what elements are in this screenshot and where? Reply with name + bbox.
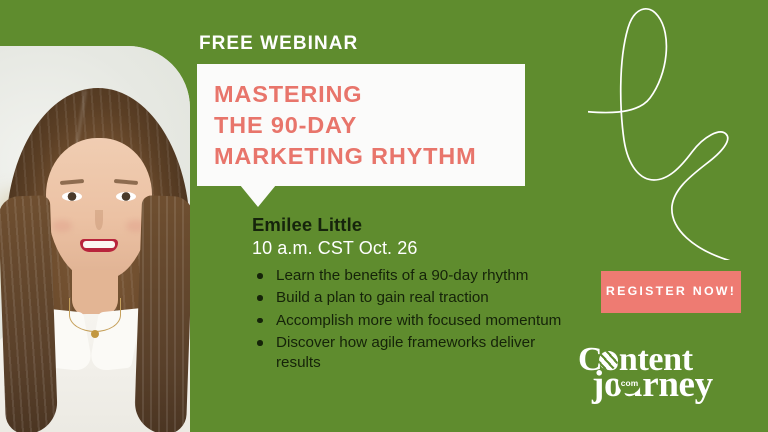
headline-line-3: MARKETING RHYTHM xyxy=(214,141,519,172)
cheek-left xyxy=(52,220,72,232)
eyebrow-left xyxy=(60,179,84,185)
headline-line-2: THE 90-DAY xyxy=(214,110,519,141)
logo-word-journey: journey xyxy=(592,363,713,406)
eyebrow-right xyxy=(114,179,138,185)
content-journey-logo[interactable]: Content journey com xyxy=(578,341,754,403)
hair-front-right xyxy=(134,195,190,432)
headline-bubble-tail xyxy=(240,185,276,207)
speaker-photo xyxy=(0,46,190,432)
register-now-button[interactable]: REGISTER NOW! xyxy=(601,271,741,313)
smiling-mouth xyxy=(80,239,118,252)
decorative-swirl-line xyxy=(588,0,768,260)
headline-text: MASTERING THE 90-DAY MARKETING RHYTHM xyxy=(214,79,519,171)
webinar-promo-poster: FREE WEBINAR MASTERING THE 90-DAY MARKET… xyxy=(0,0,768,432)
list-item: Discover how agile frameworks deliver re… xyxy=(254,333,584,374)
list-item: Accomplish more with focused momentum xyxy=(254,311,584,331)
eye-right xyxy=(116,192,136,201)
speaker-datetime: 10 a.m. CST Oct. 26 xyxy=(252,238,417,259)
headline-line-1: MASTERING xyxy=(214,79,519,110)
list-item: Learn the benefits of a 90-day rhythm xyxy=(254,266,584,286)
list-item: Build a plan to gain real traction xyxy=(254,288,584,308)
necklace-chain xyxy=(69,298,121,332)
teeth xyxy=(83,241,115,248)
benefits-list: Learn the benefits of a 90-day rhythm Bu… xyxy=(254,266,584,376)
necklace-pendant xyxy=(91,330,99,338)
hair-front-left xyxy=(0,195,58,432)
dot-com-badge: com xyxy=(618,371,641,394)
eye-left xyxy=(62,192,82,201)
nose xyxy=(95,210,103,230)
speaker-name: Emilee Little xyxy=(252,214,362,236)
kicker-label: FREE WEBINAR xyxy=(199,33,358,55)
